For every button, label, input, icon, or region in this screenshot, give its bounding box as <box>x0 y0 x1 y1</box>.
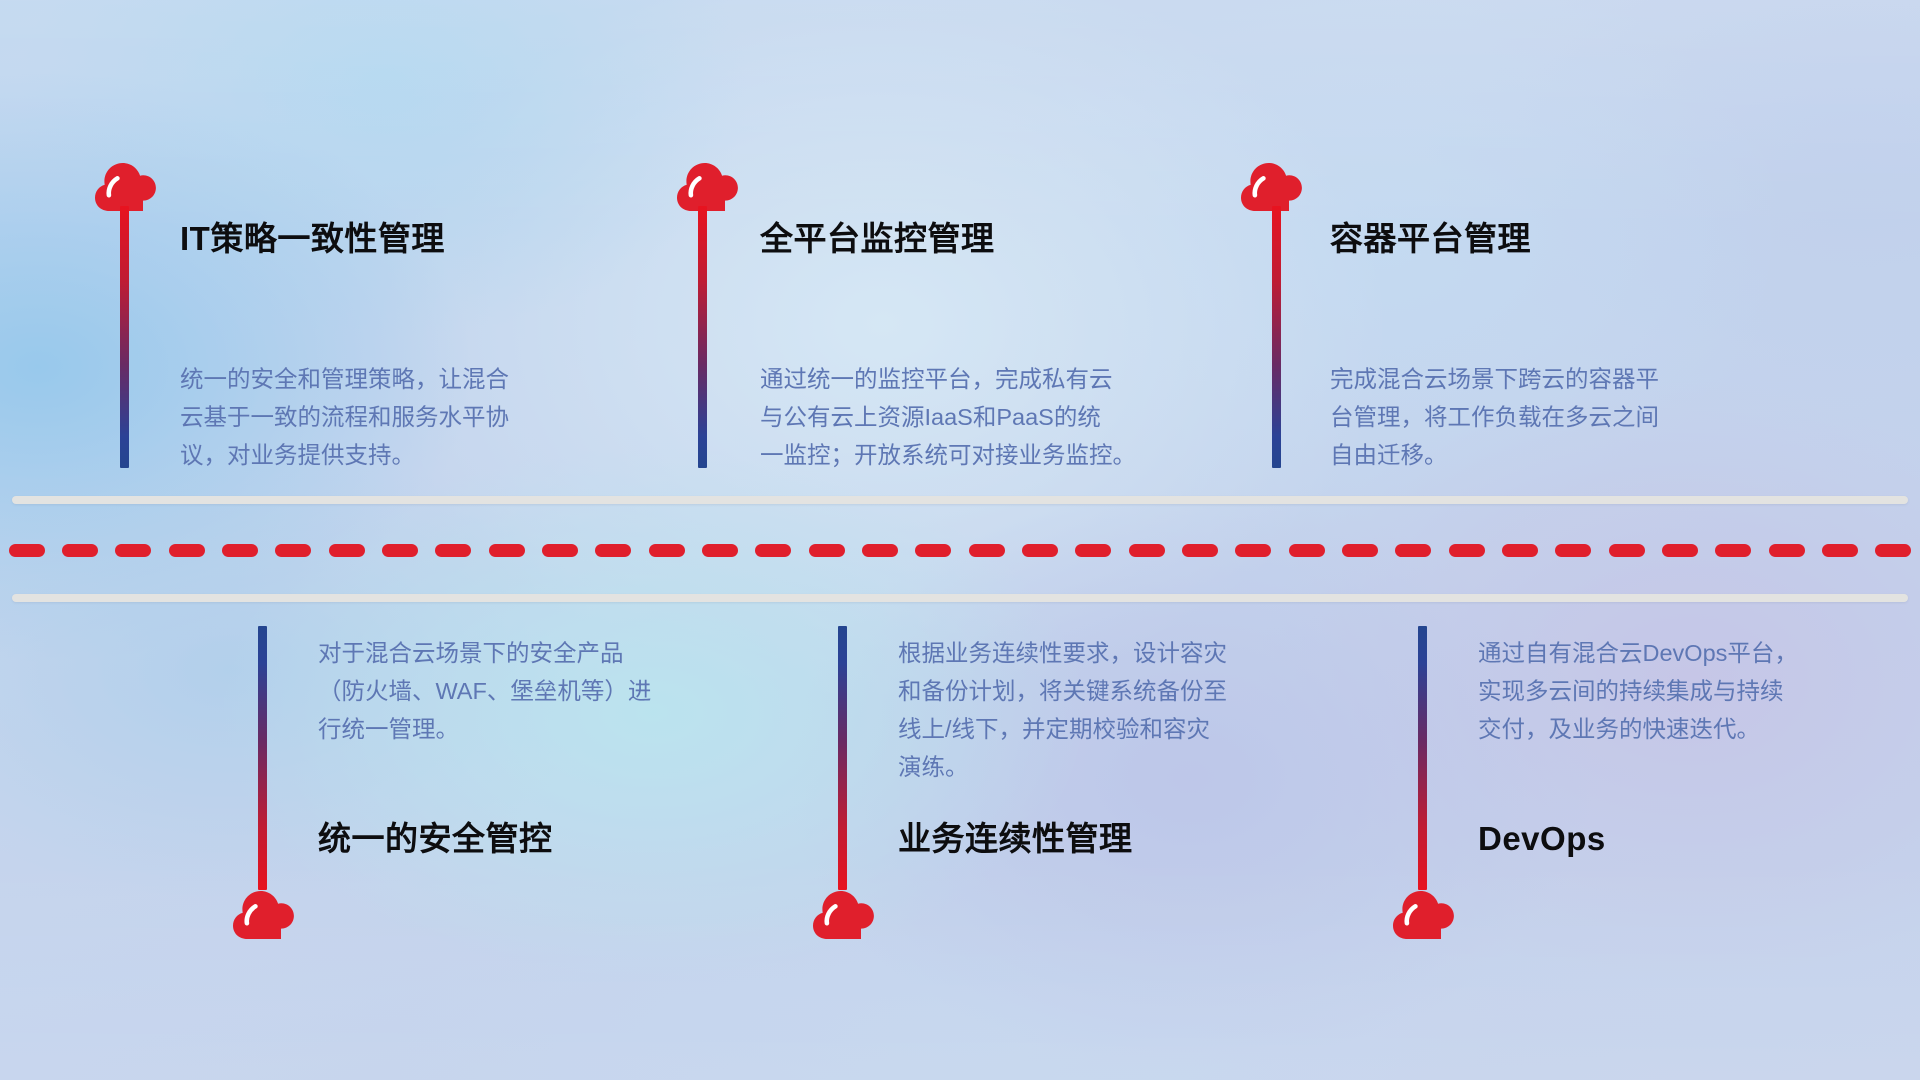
stem-connector <box>698 206 707 468</box>
dash-segment <box>1075 544 1111 557</box>
stem-connector <box>120 206 129 468</box>
dash-segment <box>1395 544 1431 557</box>
dash-segment <box>1875 544 1911 557</box>
stem-connector <box>258 626 267 890</box>
column-body: 统一的安全和管理策略，让混合 云基于一致的流程和服务水平协 议，对业务提供支持。 <box>180 360 610 474</box>
dash-segment <box>1342 544 1378 557</box>
dash-segment <box>1662 544 1698 557</box>
infographic-canvas: IT策略一致性管理 统一的安全和管理策略，让混合 云基于一致的流程和服务水平协 … <box>0 0 1920 1080</box>
dash-segment <box>1129 544 1165 557</box>
stem-connector <box>838 626 847 890</box>
cloud-icon <box>1392 890 1454 940</box>
column-body: 根据业务连续性要求，设计容灾 和备份计划，将关键系统备份至 线上/线下，并定期校… <box>898 634 1328 786</box>
column-title: 业务连续性管理 <box>898 822 1133 855</box>
dash-segment <box>382 544 418 557</box>
column-body: 通过统一的监控平台，完成私有云 与公有云上资源IaaS和PaaS的统 一监控；开… <box>760 360 1200 474</box>
column-body: 对于混合云场景下的安全产品 （防火墙、WAF、堡垒机等）进 行统一管理。 <box>318 634 748 748</box>
cloud-icon <box>1240 162 1302 212</box>
dash-segment <box>222 544 258 557</box>
dash-segment <box>915 544 951 557</box>
stem-connector <box>1272 206 1281 468</box>
dash-segment <box>1822 544 1858 557</box>
dash-segment <box>1715 544 1751 557</box>
dash-segment <box>329 544 365 557</box>
dash-segment <box>1555 544 1591 557</box>
column-title: 容器平台管理 <box>1330 222 1531 255</box>
dash-segment <box>1182 544 1218 557</box>
dash-segment <box>169 544 205 557</box>
dash-segment <box>62 544 98 557</box>
cloud-icon <box>232 890 294 940</box>
dash-segment <box>702 544 738 557</box>
dash-segment <box>435 544 471 557</box>
dashed-center-line <box>0 544 1920 557</box>
dash-segment <box>862 544 898 557</box>
dash-segment <box>595 544 631 557</box>
lower-rail <box>12 594 1908 602</box>
dash-segment <box>649 544 685 557</box>
column-body: 通过自有混合云DevOps平台， 实现多云间的持续集成与持续 交付，及业务的快速… <box>1478 634 1918 748</box>
cloud-icon <box>94 162 156 212</box>
dash-segment <box>1289 544 1325 557</box>
stem-connector <box>1418 626 1427 890</box>
cloud-icon <box>812 890 874 940</box>
column-title: 全平台监控管理 <box>760 222 995 255</box>
column-body: 完成混合云场景下跨云的容器平 台管理，将工作负载在多云之间 自由迁移。 <box>1330 360 1760 474</box>
dash-segment <box>1769 544 1805 557</box>
dash-segment <box>809 544 845 557</box>
dash-segment <box>755 544 791 557</box>
dash-segment <box>489 544 525 557</box>
dash-segment <box>969 544 1005 557</box>
dash-segment <box>9 544 45 557</box>
dash-segment <box>1449 544 1485 557</box>
cloud-icon <box>676 162 738 212</box>
dash-segment <box>115 544 151 557</box>
column-title: IT策略一致性管理 <box>180 222 445 255</box>
dash-segment <box>275 544 311 557</box>
dash-segment <box>1022 544 1058 557</box>
dash-segment <box>1502 544 1538 557</box>
column-title: DevOps <box>1478 822 1606 855</box>
upper-rail <box>12 496 1908 504</box>
dash-segment <box>542 544 578 557</box>
dash-segment <box>1609 544 1645 557</box>
column-title: 统一的安全管控 <box>318 822 553 855</box>
dash-segment <box>1235 544 1271 557</box>
